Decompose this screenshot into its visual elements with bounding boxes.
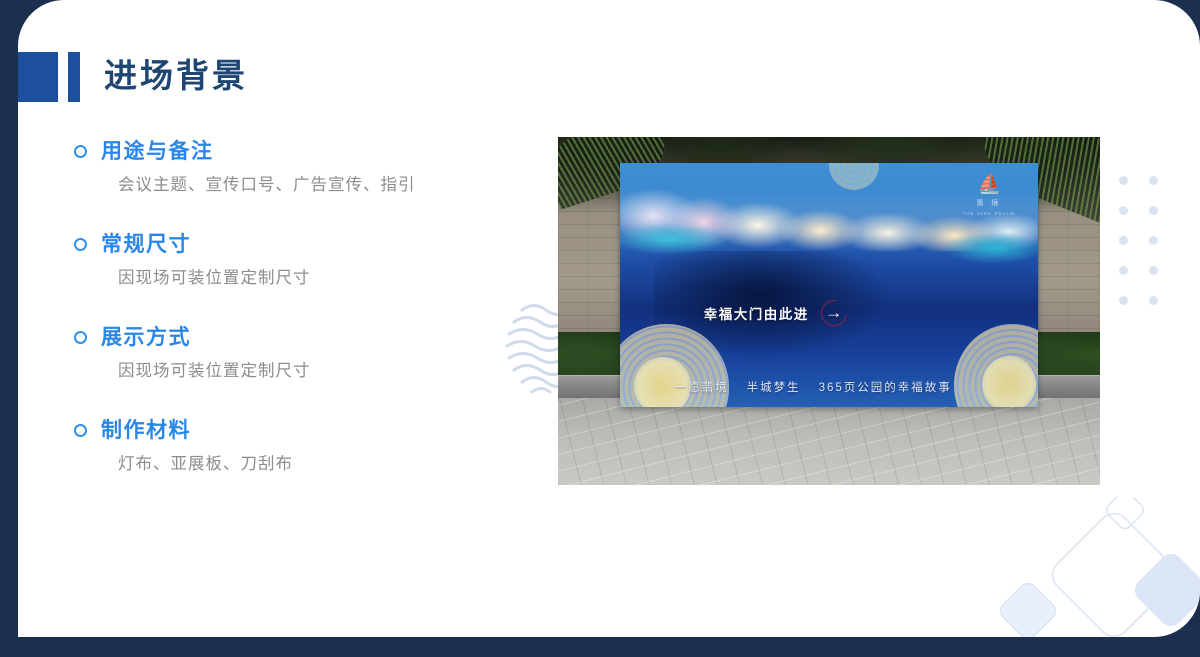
dot bbox=[1149, 266, 1158, 275]
dot bbox=[1149, 236, 1158, 245]
photo-banner-artwork: ⛵ 翡 境 THE JADE REALM 幸福大门由此进 → 一愿翡境 半城梦生… bbox=[620, 163, 1037, 407]
banner-logo-subtitle: THE JADE REALM bbox=[961, 211, 1017, 216]
list-item: 用途与备注 会议主题、宣传口号、广告宣传、指引 bbox=[74, 140, 504, 196]
bullet-list: 用途与备注 会议主题、宣传口号、广告宣传、指引 常规尺寸 因现场可装位置定制尺寸… bbox=[74, 140, 504, 512]
banner-logo-name: 翡 境 bbox=[961, 198, 1017, 208]
page-title: 进场背景 bbox=[104, 61, 248, 94]
banner-slogan-part: 一愿翡境 bbox=[675, 379, 729, 395]
ring-icon bbox=[74, 238, 87, 251]
banner-swirl-bottom-right bbox=[954, 324, 1037, 407]
arrow-right-icon: → bbox=[825, 304, 842, 321]
list-item-desc: 灯布、亚展板、刀刮布 bbox=[118, 455, 504, 475]
banner-arrow-group: → bbox=[821, 300, 847, 326]
dot bbox=[1149, 206, 1158, 215]
title-accent-bar-wide bbox=[18, 52, 58, 102]
banner-swirl-top bbox=[829, 163, 879, 190]
list-item-title: 用途与备注 bbox=[101, 140, 214, 163]
list-item-head: 常规尺寸 bbox=[74, 233, 504, 256]
dot bbox=[1119, 236, 1128, 245]
banner-logo: ⛵ 翡 境 THE JADE REALM bbox=[961, 175, 1017, 216]
diamond-outline-decoration bbox=[970, 497, 1200, 637]
list-item-head: 展示方式 bbox=[74, 326, 504, 349]
list-item-desc: 因现场可装位置定制尺寸 bbox=[118, 362, 504, 382]
slide-canvas: 进场背景 用途与备注 会议主题、宣传口号、广告宣传、指引 常规尺寸 因现场可装位… bbox=[0, 0, 1200, 657]
banner-headline-text: 幸福大门由此进 bbox=[704, 303, 809, 323]
dot bbox=[1149, 296, 1158, 305]
reference-photo: ⛵ 翡 境 THE JADE REALM 幸福大门由此进 → 一愿翡境 半城梦生… bbox=[558, 137, 1100, 485]
slide-white-card: 进场背景 用途与备注 会议主题、宣传口号、广告宣传、指引 常规尺寸 因现场可装位… bbox=[18, 0, 1200, 637]
list-item-title: 常规尺寸 bbox=[101, 233, 191, 256]
dot bbox=[1119, 176, 1128, 185]
list-item: 常规尺寸 因现场可装位置定制尺寸 bbox=[74, 233, 504, 289]
list-item-title: 制作材料 bbox=[101, 419, 191, 442]
dot-grid-decoration bbox=[1119, 176, 1160, 307]
ring-icon bbox=[74, 424, 87, 437]
dot bbox=[1119, 266, 1128, 275]
title-accent-bar-thin bbox=[68, 52, 80, 102]
dot bbox=[1119, 206, 1128, 215]
photo-paving bbox=[558, 398, 1100, 485]
banner-slogan-part: 半城梦生 bbox=[747, 379, 801, 395]
list-item: 制作材料 灯布、亚展板、刀刮布 bbox=[74, 419, 504, 475]
banner-swirl-core bbox=[982, 356, 1036, 407]
list-item-title: 展示方式 bbox=[101, 326, 191, 349]
ring-icon bbox=[74, 331, 87, 344]
list-item-head: 用途与备注 bbox=[74, 140, 504, 163]
list-item-desc: 会议主题、宣传口号、广告宣传、指引 bbox=[118, 176, 504, 196]
dot bbox=[1119, 296, 1128, 305]
ring-icon bbox=[74, 145, 87, 158]
list-item-head: 制作材料 bbox=[74, 419, 504, 442]
page-title-block: 进场背景 bbox=[18, 50, 248, 104]
list-item-desc: 因现场可装位置定制尺寸 bbox=[118, 269, 504, 289]
dot bbox=[1149, 176, 1158, 185]
list-item: 展示方式 因现场可装位置定制尺寸 bbox=[74, 326, 504, 382]
banner-slogan-part: 365页公园的幸福故事 bbox=[819, 379, 952, 395]
banner-headline-group: 幸福大门由此进 → bbox=[704, 300, 847, 326]
sailboat-icon: ⛵ bbox=[961, 175, 1017, 194]
banner-slogan-group: 一愿翡境 半城梦生 365页公园的幸福故事 bbox=[675, 379, 952, 395]
banner-teal-right bbox=[929, 231, 1038, 265]
